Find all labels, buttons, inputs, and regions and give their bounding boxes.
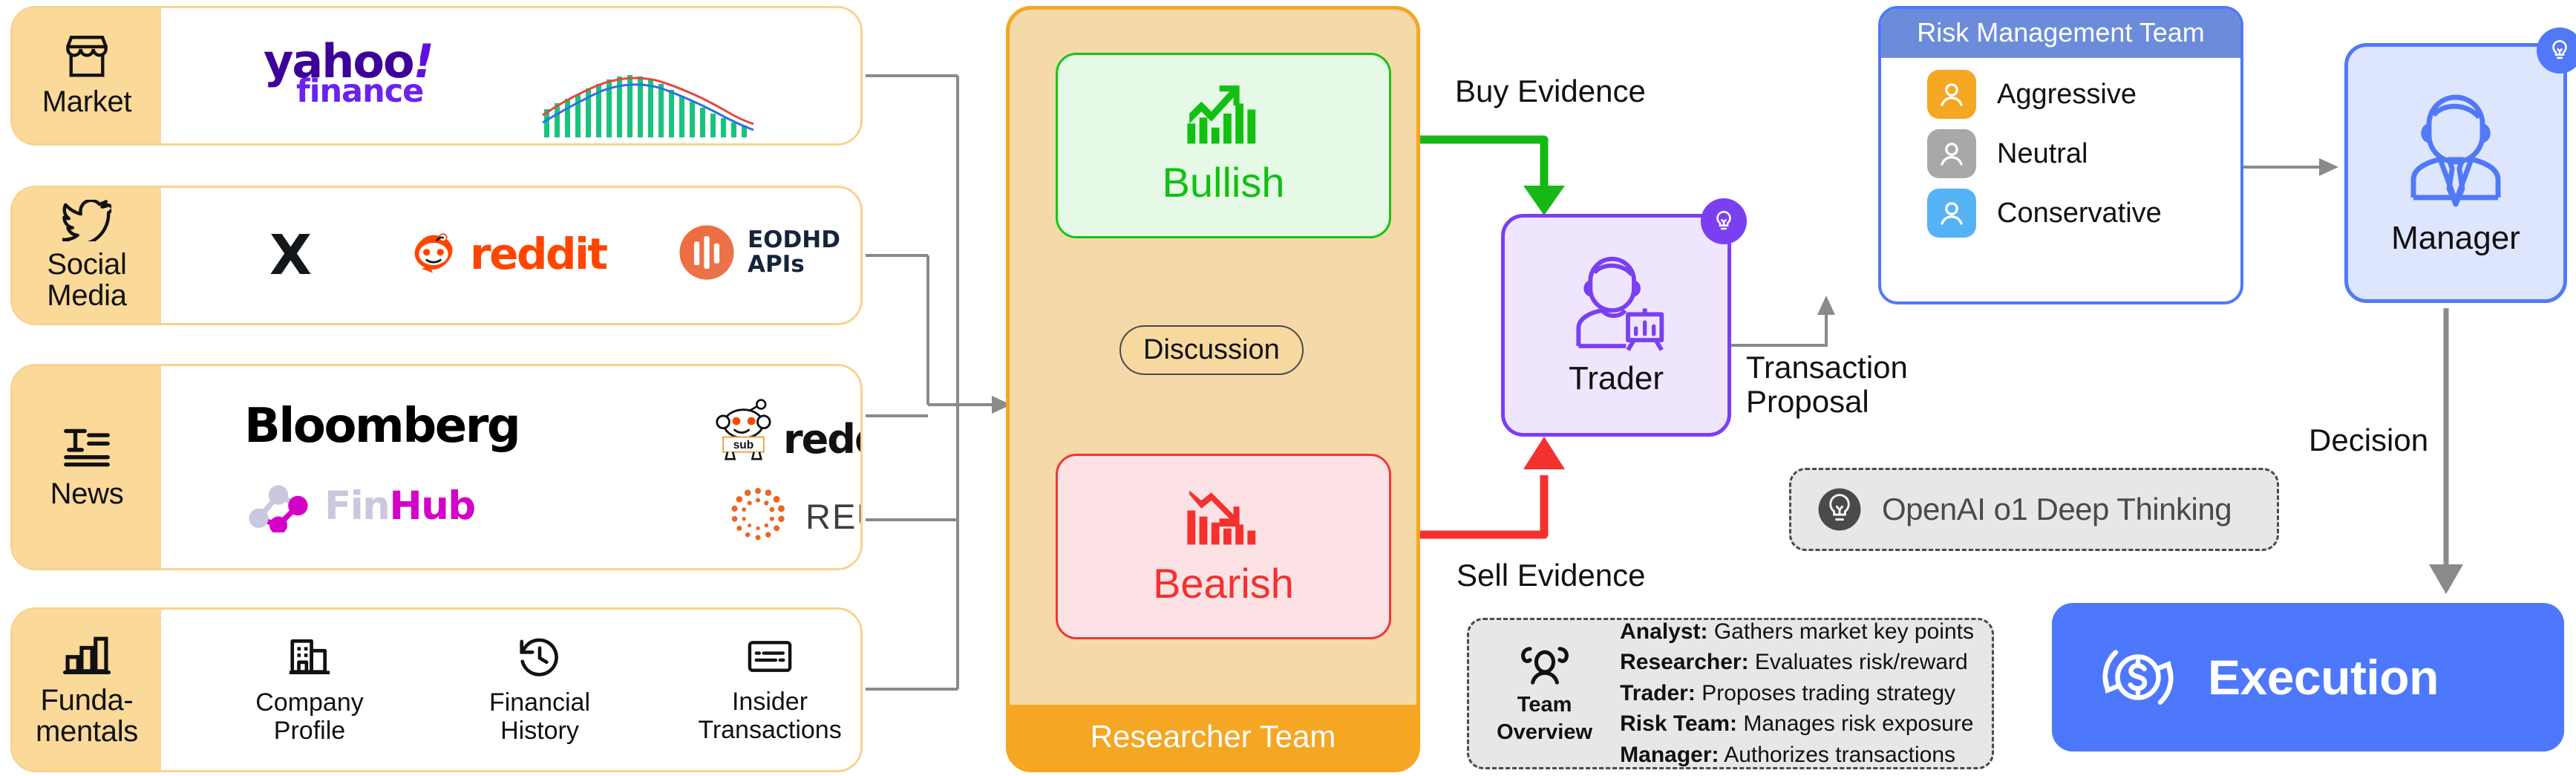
subreddit-wordmark: reddit [783, 416, 863, 463]
trader-node[interactable]: Trader [1501, 214, 1731, 437]
trader-thinking-badge[interactable] [1701, 198, 1747, 244]
lightbulb-icon [2547, 38, 2572, 63]
manager-node[interactable]: Manager [2344, 43, 2567, 303]
source-card-news[interactable]: News Bloomberg FinHub [10, 364, 863, 570]
execution-label: Execution [2208, 649, 2439, 705]
source-tab-news: News [13, 366, 161, 568]
subreddit-mascot-icon: sub [715, 397, 777, 463]
researcher-team-label: Researcher Team [1091, 719, 1336, 754]
team-overview-role: Risk Team: [1620, 711, 1737, 736]
risk-member-aggressive[interactable]: Aggressive [1927, 70, 2240, 119]
risk-team-members: Aggressive Neutral Conservative [1881, 58, 2240, 251]
yahoo-finance-logo[interactable]: yahoo! finance [264, 44, 433, 105]
reuters-mark-icon [725, 483, 791, 549]
risk-member-label-conservative: Conservative [1997, 198, 2162, 229]
trending-down-icon [1183, 486, 1264, 555]
team-overview-title: Team Overview [1485, 643, 1604, 745]
researcher-team-footer: Researcher Team [1010, 705, 1416, 769]
finhub-logo[interactable]: FinHub [243, 479, 475, 532]
people-group-icon [1517, 643, 1573, 689]
team-overview-box: Team Overview Analyst: Gathers market ke… [1467, 618, 1994, 769]
discussion-chip[interactable]: Discussion [1119, 325, 1304, 375]
clock-history-icon [517, 635, 563, 678]
bearish-label: Bearish [1153, 559, 1294, 607]
team-overview-desc: Authorizes transactions [1724, 743, 1955, 767]
bloomberg-logo[interactable]: Bloomberg [244, 399, 519, 454]
execution-node[interactable]: Execution [2052, 603, 2564, 751]
risk-member-label-neutral: Neutral [1997, 138, 2088, 170]
fundamentals-label-company-profile: Company Profile [255, 688, 364, 745]
article-icon [62, 425, 112, 471]
bearish-card[interactable]: Bearish [1056, 454, 1391, 639]
reddit-wordmark: reddit [470, 229, 607, 279]
source-providers-fundamentals: Company Profile Financial History Ins [161, 610, 863, 770]
source-tab-market: Market [13, 8, 161, 143]
person-icon [1927, 70, 1976, 119]
source-label-news: News [50, 478, 124, 509]
manager-thinking-badge[interactable] [2537, 27, 2576, 74]
team-overview-title-line1: Team [1517, 694, 1572, 717]
source-card-social-media[interactable]: Social Media X reddit [10, 186, 863, 325]
bullish-card[interactable]: Bullish [1056, 53, 1391, 238]
subreddit-logo[interactable]: sub reddit [715, 397, 863, 463]
source-card-market[interactable]: Market yahoo! finance [10, 6, 863, 146]
source-tab-social-media: Social Media [13, 188, 161, 323]
reddit-logo[interactable]: reddit [406, 226, 607, 281]
source-label-market: Market [42, 86, 131, 117]
discussion-label: Discussion [1143, 334, 1280, 365]
team-overview-row: Trader: Proposes trading strategy [1620, 679, 1974, 708]
team-overview-desc: Manages risk exposure [1743, 711, 1973, 736]
eodhd-line2: APIs [748, 252, 840, 277]
manager-label: Manager [2391, 220, 2520, 257]
fundamentals-item-financial-history[interactable]: Financial History [443, 635, 636, 745]
trader-avatar-icon [1557, 249, 1676, 360]
storefront-icon [62, 34, 112, 79]
person-icon [1927, 189, 1976, 238]
lightbulb-icon [1817, 486, 1863, 532]
fundamentals-item-company-profile[interactable]: Company Profile [213, 635, 406, 745]
edge-label-sell-evidence: Sell Evidence [1457, 558, 1645, 593]
model-badge[interactable]: OpenAI o1 Deep Thinking [1789, 468, 2279, 551]
risk-member-neutral[interactable]: Neutral [1927, 129, 2240, 178]
x-logo[interactable]: X [269, 224, 310, 287]
team-overview-desc: Gathers market key points [1714, 619, 1974, 644]
risk-team-title: Risk Management Team [1881, 9, 2240, 58]
team-overview-row: Risk Team: Manages risk exposure [1620, 710, 1974, 738]
source-providers-market: yahoo! finance [161, 8, 860, 143]
bullish-label: Bullish [1163, 158, 1285, 206]
team-overview-role: Manager: [1620, 743, 1719, 767]
card-list-icon [746, 636, 794, 677]
line-indicator-chart [540, 68, 755, 146]
eodhd-apis-logo[interactable]: EODHD APIs [678, 224, 840, 281]
manager-avatar-icon [2389, 86, 2523, 220]
reddit-mascot-icon [406, 226, 461, 281]
diagram-canvas: Market yahoo! finance [0, 0, 2576, 776]
fundamentals-item-insider-transactions[interactable]: Insider Transactions [673, 636, 863, 744]
edge-label-decision: Decision [2309, 423, 2428, 457]
eodhd-line1: EODHD [748, 228, 840, 252]
building-icon [287, 635, 333, 678]
source-label-fundamentals: Funda- mentals [36, 685, 138, 748]
risk-member-label-aggressive: Aggressive [1997, 79, 2137, 111]
source-providers-news: Bloomberg FinHub [161, 366, 860, 568]
trader-label: Trader [1569, 360, 1664, 397]
trending-up-icon [1183, 85, 1264, 154]
model-badge-label: OpenAI o1 Deep Thinking [1882, 492, 2232, 527]
team-overview-role: Analyst: [1620, 619, 1707, 644]
lightbulb-icon [1711, 209, 1736, 234]
eodhd-mark-icon [678, 224, 736, 281]
team-overview-row: Researcher: Evaluates risk/reward [1620, 648, 1974, 676]
edge-label-buy-evidence: Buy Evidence [1455, 74, 1646, 108]
team-overview-role: Researcher: [1620, 650, 1748, 674]
team-overview-desc: Evaluates risk/reward [1755, 650, 1968, 674]
bar-chart-icon [62, 633, 111, 677]
source-providers-social-media: X reddit [161, 188, 860, 323]
fundamentals-label-insider-transactions: Insider Transactions [698, 688, 841, 744]
reuters-logo[interactable]: REUTERS [725, 483, 863, 549]
fundamentals-label-financial-history: Financial History [489, 688, 590, 745]
team-overview-desc: Proposes trading strategy [1701, 681, 1955, 705]
team-overview-title-line2: Overview [1497, 721, 1592, 744]
source-tab-fundamentals: Funda- mentals [13, 610, 161, 770]
subreddit-tag-text: sub [733, 439, 753, 451]
lightbulb-badge-circle [1817, 486, 1863, 532]
researcher-team-panel[interactable]: Bullish Discussion Bearish Researcher Te… [1006, 6, 1420, 772]
reuters-wordmark: REUTERS [805, 496, 863, 537]
finhub-hub: Hub [389, 483, 474, 529]
finhub-fin: Fin [324, 483, 389, 529]
source-label-social-media: Social Media [47, 249, 126, 312]
finhub-mark-icon [243, 479, 314, 532]
team-overview-rows: Analyst: Gathers market key points Resea… [1620, 618, 1974, 769]
money-refresh-icon [2093, 633, 2183, 722]
person-icon [1927, 129, 1976, 178]
risk-member-conservative[interactable]: Conservative [1927, 189, 2240, 238]
team-overview-row: Analyst: Gathers market key points [1620, 618, 1974, 646]
source-card-fundamentals[interactable]: Funda- mentals Company Profile [10, 607, 863, 772]
team-overview-row: Manager: Authorizes transactions [1620, 741, 1974, 769]
risk-management-team-panel[interactable]: Risk Management Team Aggressive Neutral [1878, 6, 2243, 304]
edge-label-transaction-proposal: Transaction Proposal [1746, 350, 1908, 419]
team-overview-role: Trader: [1620, 681, 1696, 705]
twitter-bird-icon [62, 200, 111, 241]
